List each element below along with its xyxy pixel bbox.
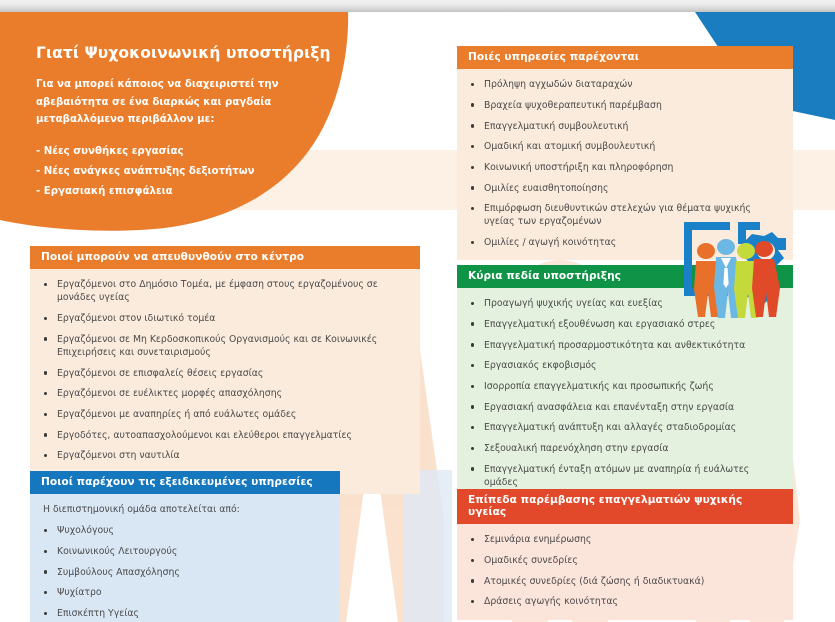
hero-bullet: - Νέες ανάγκες ανάπτυξης δεξιοτήτων — [36, 162, 336, 182]
list-item: Εργοδότες, αυτοαπασχολούμενοι και ελεύθε… — [42, 429, 408, 442]
hero-intro: Για να μπορεί κάποιος να διαχειριστεί τη… — [36, 76, 336, 129]
panel-who-can-address-body: Εργαζόμενοι στο Δημόσιο Τομέα, με έμφαση… — [30, 269, 420, 494]
list-item: Εργαζόμενοι σε επισφαλείς θέσεις εργασία… — [42, 367, 408, 380]
panel-who-provides-lead: Η διεπιστημονική ομάδα αποτελείται από: — [43, 503, 328, 516]
panel-who-can-address-list: Εργαζόμενοι στο Δημόσιο Τομέα, με έμφαση… — [42, 278, 408, 483]
list-item: Επαγγελματική ένταξη ατόμων με αναπηρία … — [469, 463, 781, 489]
panel-who-provides-services: Ποιοί παρέχουν τις εξειδικευμένες υπηρεσ… — [30, 471, 340, 622]
panel-intervention-levels-header: Επίπεδα παρέμβασης επαγγελματιών ψυχικής… — [457, 489, 793, 524]
list-item: Ψυχολόγους — [42, 524, 328, 537]
list-item: Συμβούλους Απασχόλησης — [42, 566, 328, 579]
four-people-gear-logo — [676, 218, 792, 322]
hero-bullet-list: - Νέες συνθήκες εργασίας - Νέες ανάγκες … — [36, 142, 336, 203]
list-item: Εργαζόμενοι στη ναυτιλία — [42, 449, 408, 462]
panel-who-provides-services-header: Ποιοί παρέχουν τις εξειδικευμένες υπηρεσ… — [30, 471, 340, 494]
hero-bullet: - Νέες συνθήκες εργασίας — [36, 142, 336, 162]
list-item: Εργαζόμενοι στο Δημόσιο Τομέα, με έμφαση… — [42, 278, 408, 304]
hero-title: Γιατί Ψυχοκοινωνική υποστήριξη — [36, 44, 336, 63]
list-item: Ομαδική και ατομική συμβουλευτική — [469, 140, 781, 153]
poster-canvas: Γιατί Ψυχοκοινωνική υποστήριξη Για να μπ… — [0, 0, 835, 622]
list-item: Εργαζόμενοι σε ευέλικτες μορφές απασχόλη… — [42, 387, 408, 400]
list-item: Εργασιακή ανασφάλεια και επανένταξη στην… — [469, 401, 781, 414]
list-item: Βραχεία ψυχοθεραπευτική παρέμβαση — [469, 99, 781, 112]
panel-who-provides-services-body: Η διεπιστημονική ομάδα αποτελείται από: … — [30, 494, 340, 622]
list-item: Εργαζόμενοι με αναπηρίες ή από ευάλωτες … — [42, 408, 408, 421]
panel-intervention-levels-list: Σεμινάρια ενημέρωσης Ομαδικές συνεδρίες … — [469, 533, 781, 608]
list-item: Ψυχίατρο — [42, 586, 328, 599]
list-item: Ισορροπία επαγγελματικής και προσωπικής … — [469, 380, 781, 393]
panel-intervention-levels-body: Σεμινάρια ενημέρωσης Ομαδικές συνεδρίες … — [457, 524, 793, 619]
list-item: Ομιλίες ευαισθητοποίησης — [469, 182, 781, 195]
panel-services-header: Ποιές υπηρεσίες παρέχονται — [457, 46, 793, 69]
list-item: Κοινωνικούς Λειτουργούς — [42, 545, 328, 558]
panel-who-provides-list: Ψυχολόγους Κοινωνικούς Λειτουργούς Συμβο… — [42, 524, 328, 620]
list-item: Ατομικές συνεδρίες (διά ζώσης ή διαδικτυ… — [469, 575, 781, 588]
hero-bullet: - Εργασιακή επισφάλεια — [36, 182, 336, 202]
list-item: Κοινωνική υποστήριξη και πληροφόρηση — [469, 161, 781, 174]
list-item: Επαγγελματική ανάπτυξη και αλλαγές σταδι… — [469, 421, 781, 434]
list-item: Ομαδικές συνεδρίες — [469, 554, 781, 567]
list-item: Εργασιακός εκφοβισμός — [469, 359, 781, 372]
list-item: Επαγγελματική συμβουλευτική — [469, 120, 781, 133]
hero-text-block: Γιατί Ψυχοκοινωνική υποστήριξη Για να μπ… — [36, 44, 336, 203]
panel-intervention-levels: Επίπεδα παρέμβασης επαγγελματιών ψυχικής… — [457, 489, 793, 620]
panel-who-can-address: Ποιοί μπορούν να απευθυνθούν στο κέντρο … — [30, 246, 420, 494]
list-item: Επαγγελματική προσαρμοστικότητα και ανθε… — [469, 339, 781, 352]
list-item: Σεξουαλική παρενόχληση στην εργασία — [469, 442, 781, 455]
list-item: Δράσεις αγωγής κοινότητας — [469, 595, 781, 608]
list-item: Εργαζόμενοι στον ιδιωτικό τομέα — [42, 312, 408, 325]
panel-main-support-fields-list: Προαγωγή ψυχικής υγείας και ευεξίας Επαγ… — [469, 297, 781, 489]
list-item: Εργαζόμενοι σε Μη Κερδοσκοπικούς Οργανισ… — [42, 333, 408, 359]
list-item: Πρόληψη αγχωδών διαταραχών — [469, 78, 781, 91]
window-top-strip — [0, 0, 835, 12]
list-item: Σεμινάρια ενημέρωσης — [469, 533, 781, 546]
panel-who-can-address-header: Ποιοί μπορούν να απευθυνθούν στο κέντρο — [30, 246, 420, 269]
list-item: Επισκέπτη Υγείας — [42, 607, 328, 620]
